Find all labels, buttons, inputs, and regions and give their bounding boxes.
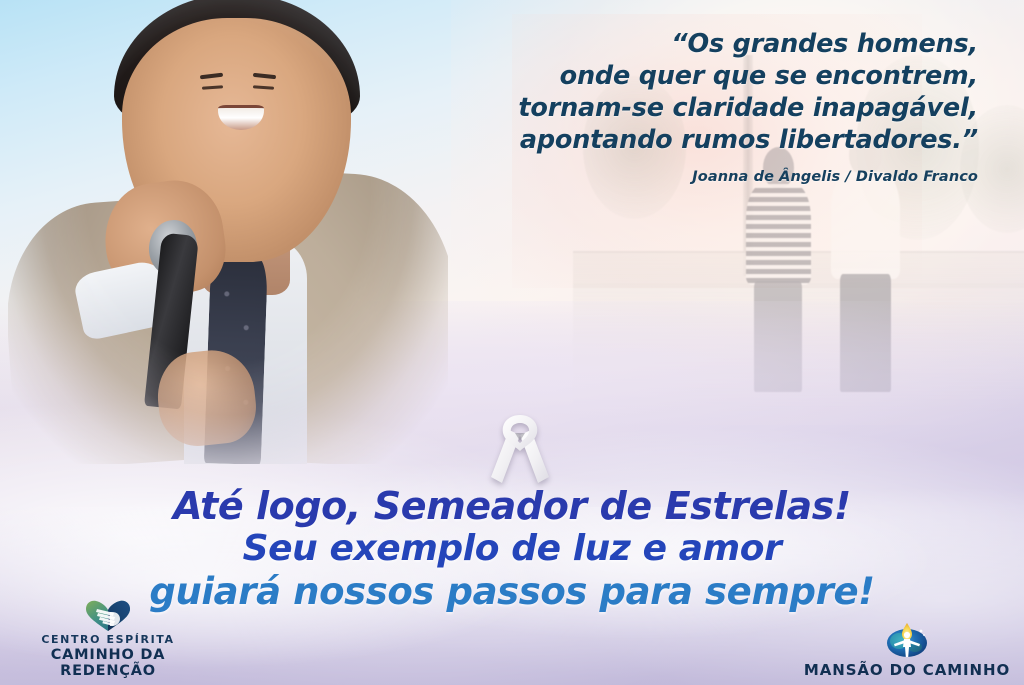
portrait-eye — [202, 85, 223, 89]
scene-person-torso — [746, 184, 811, 286]
quote-block: “Os grandes homens, onde quer que se enc… — [418, 28, 978, 185]
scene-person-torso — [831, 172, 900, 280]
quote-author: Joanna de Ângelis / Divaldo Franco — [418, 169, 978, 185]
portrait-eyebrow — [253, 73, 276, 79]
portrait-photo — [8, 0, 448, 464]
white-awareness-ribbon-icon — [489, 413, 551, 485]
logo-centro-espirita: CENTRO ESPÍRITA CAMINHO DA REDENÇÃO — [8, 600, 208, 679]
portrait-eyebrow — [200, 72, 223, 79]
quote-line-2: onde quer que se encontrem, — [418, 60, 978, 92]
logo-left-line-1: CENTRO ESPÍRITA — [8, 633, 208, 646]
globe-figure-flame-icon — [885, 621, 929, 659]
logo-left-line-2: CAMINHO DA REDENÇÃO — [8, 647, 208, 679]
heart-hands-icon — [85, 600, 131, 632]
headline-line-1: Até logo, Semeador de Estrelas! — [0, 487, 1024, 525]
portrait-smile — [218, 105, 264, 130]
quote-line-4: apontando rumos libertadores.” — [418, 124, 978, 156]
headline-block: Até logo, Semeador de Estrelas! Seu exem… — [0, 487, 1024, 610]
quote-line-3: tornam-se claridade inapagável, — [418, 92, 978, 124]
headline-line-2: Seu exemplo de luz e amor — [0, 531, 1024, 567]
memorial-poster: “Os grandes homens, onde quer que se enc… — [0, 0, 1024, 685]
portrait-eye — [253, 85, 274, 89]
logo-mansao-do-caminho: MANSÃO DO CAMINHO — [802, 621, 1012, 679]
portrait-fade-mask — [8, 0, 448, 464]
logo-right-line-1: MANSÃO DO CAMINHO — [802, 661, 1012, 679]
quote-line-1: “Os grandes homens, — [418, 28, 978, 60]
